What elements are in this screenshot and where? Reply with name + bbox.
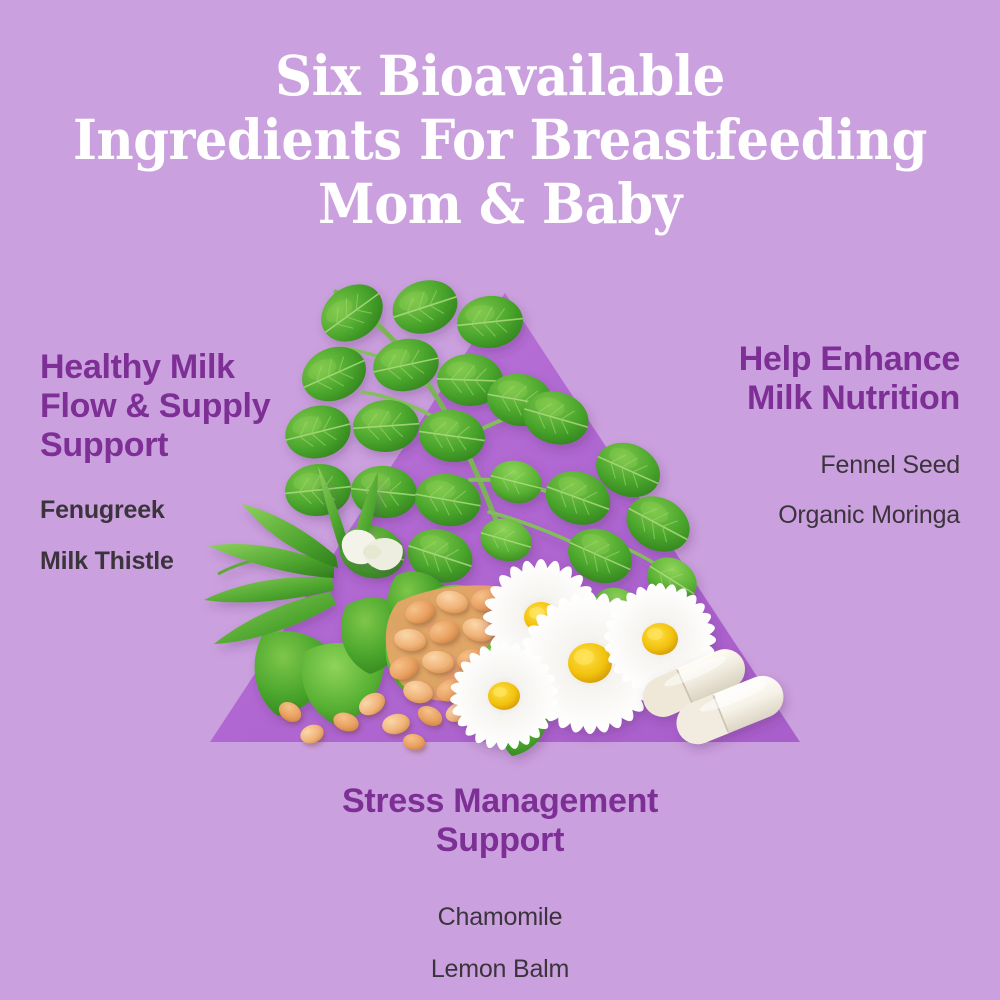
poster-title: Six Bioavailable Ingredients For Breastf… xyxy=(0,44,1000,236)
title-line-1: Six Bioavailable xyxy=(35,44,965,108)
benefit-panel-stress-management: Stress Management Support Chamomile Lemo… xyxy=(0,782,1000,984)
benefit-panel-milk-nutrition: Help Enhance Milk Nutrition Fennel Seed … xyxy=(630,340,960,530)
ingredient-item: Lemon Balm xyxy=(0,954,1000,984)
ingredient-list-milk-flow: Fenugreek Milk Thistle xyxy=(40,495,340,576)
ingredient-item: Fenugreek xyxy=(40,495,340,525)
ingredient-item: Milk Thistle xyxy=(40,546,340,576)
panel-heading-milk-flow: Healthy Milk Flow & Supply Support xyxy=(40,348,340,465)
ingredient-item: Fennel Seed xyxy=(630,450,960,480)
title-line-2: Ingredients For Breastfeeding xyxy=(35,108,965,172)
benefit-panel-milk-flow: Healthy Milk Flow & Supply Support Fenug… xyxy=(40,348,340,576)
panel-heading-line: Milk Nutrition xyxy=(747,379,960,417)
title-line-3: Mom & Baby xyxy=(35,172,965,236)
panel-heading-line: Support xyxy=(436,821,564,859)
ingredient-list-stress-management: Chamomile Lemon Balm xyxy=(0,902,1000,984)
panel-heading-line: Support xyxy=(40,426,168,464)
ingredient-list-milk-nutrition: Fennel Seed Organic Moringa xyxy=(630,450,960,530)
ingredient-item: Chamomile xyxy=(0,902,1000,932)
panel-heading-line: Healthy Milk xyxy=(40,348,235,386)
panel-heading-milk-nutrition: Help Enhance Milk Nutrition xyxy=(630,340,960,418)
ingredient-item: Organic Moringa xyxy=(630,500,960,530)
panel-heading-line: Help Enhance xyxy=(739,340,960,378)
poster-canvas: Six Bioavailable Ingredients For Breastf… xyxy=(0,0,1000,1000)
panel-heading-line: Stress Management xyxy=(342,782,658,820)
panel-heading-stress-management: Stress Management Support xyxy=(0,782,1000,860)
panel-heading-line: Flow & Supply xyxy=(40,387,270,425)
